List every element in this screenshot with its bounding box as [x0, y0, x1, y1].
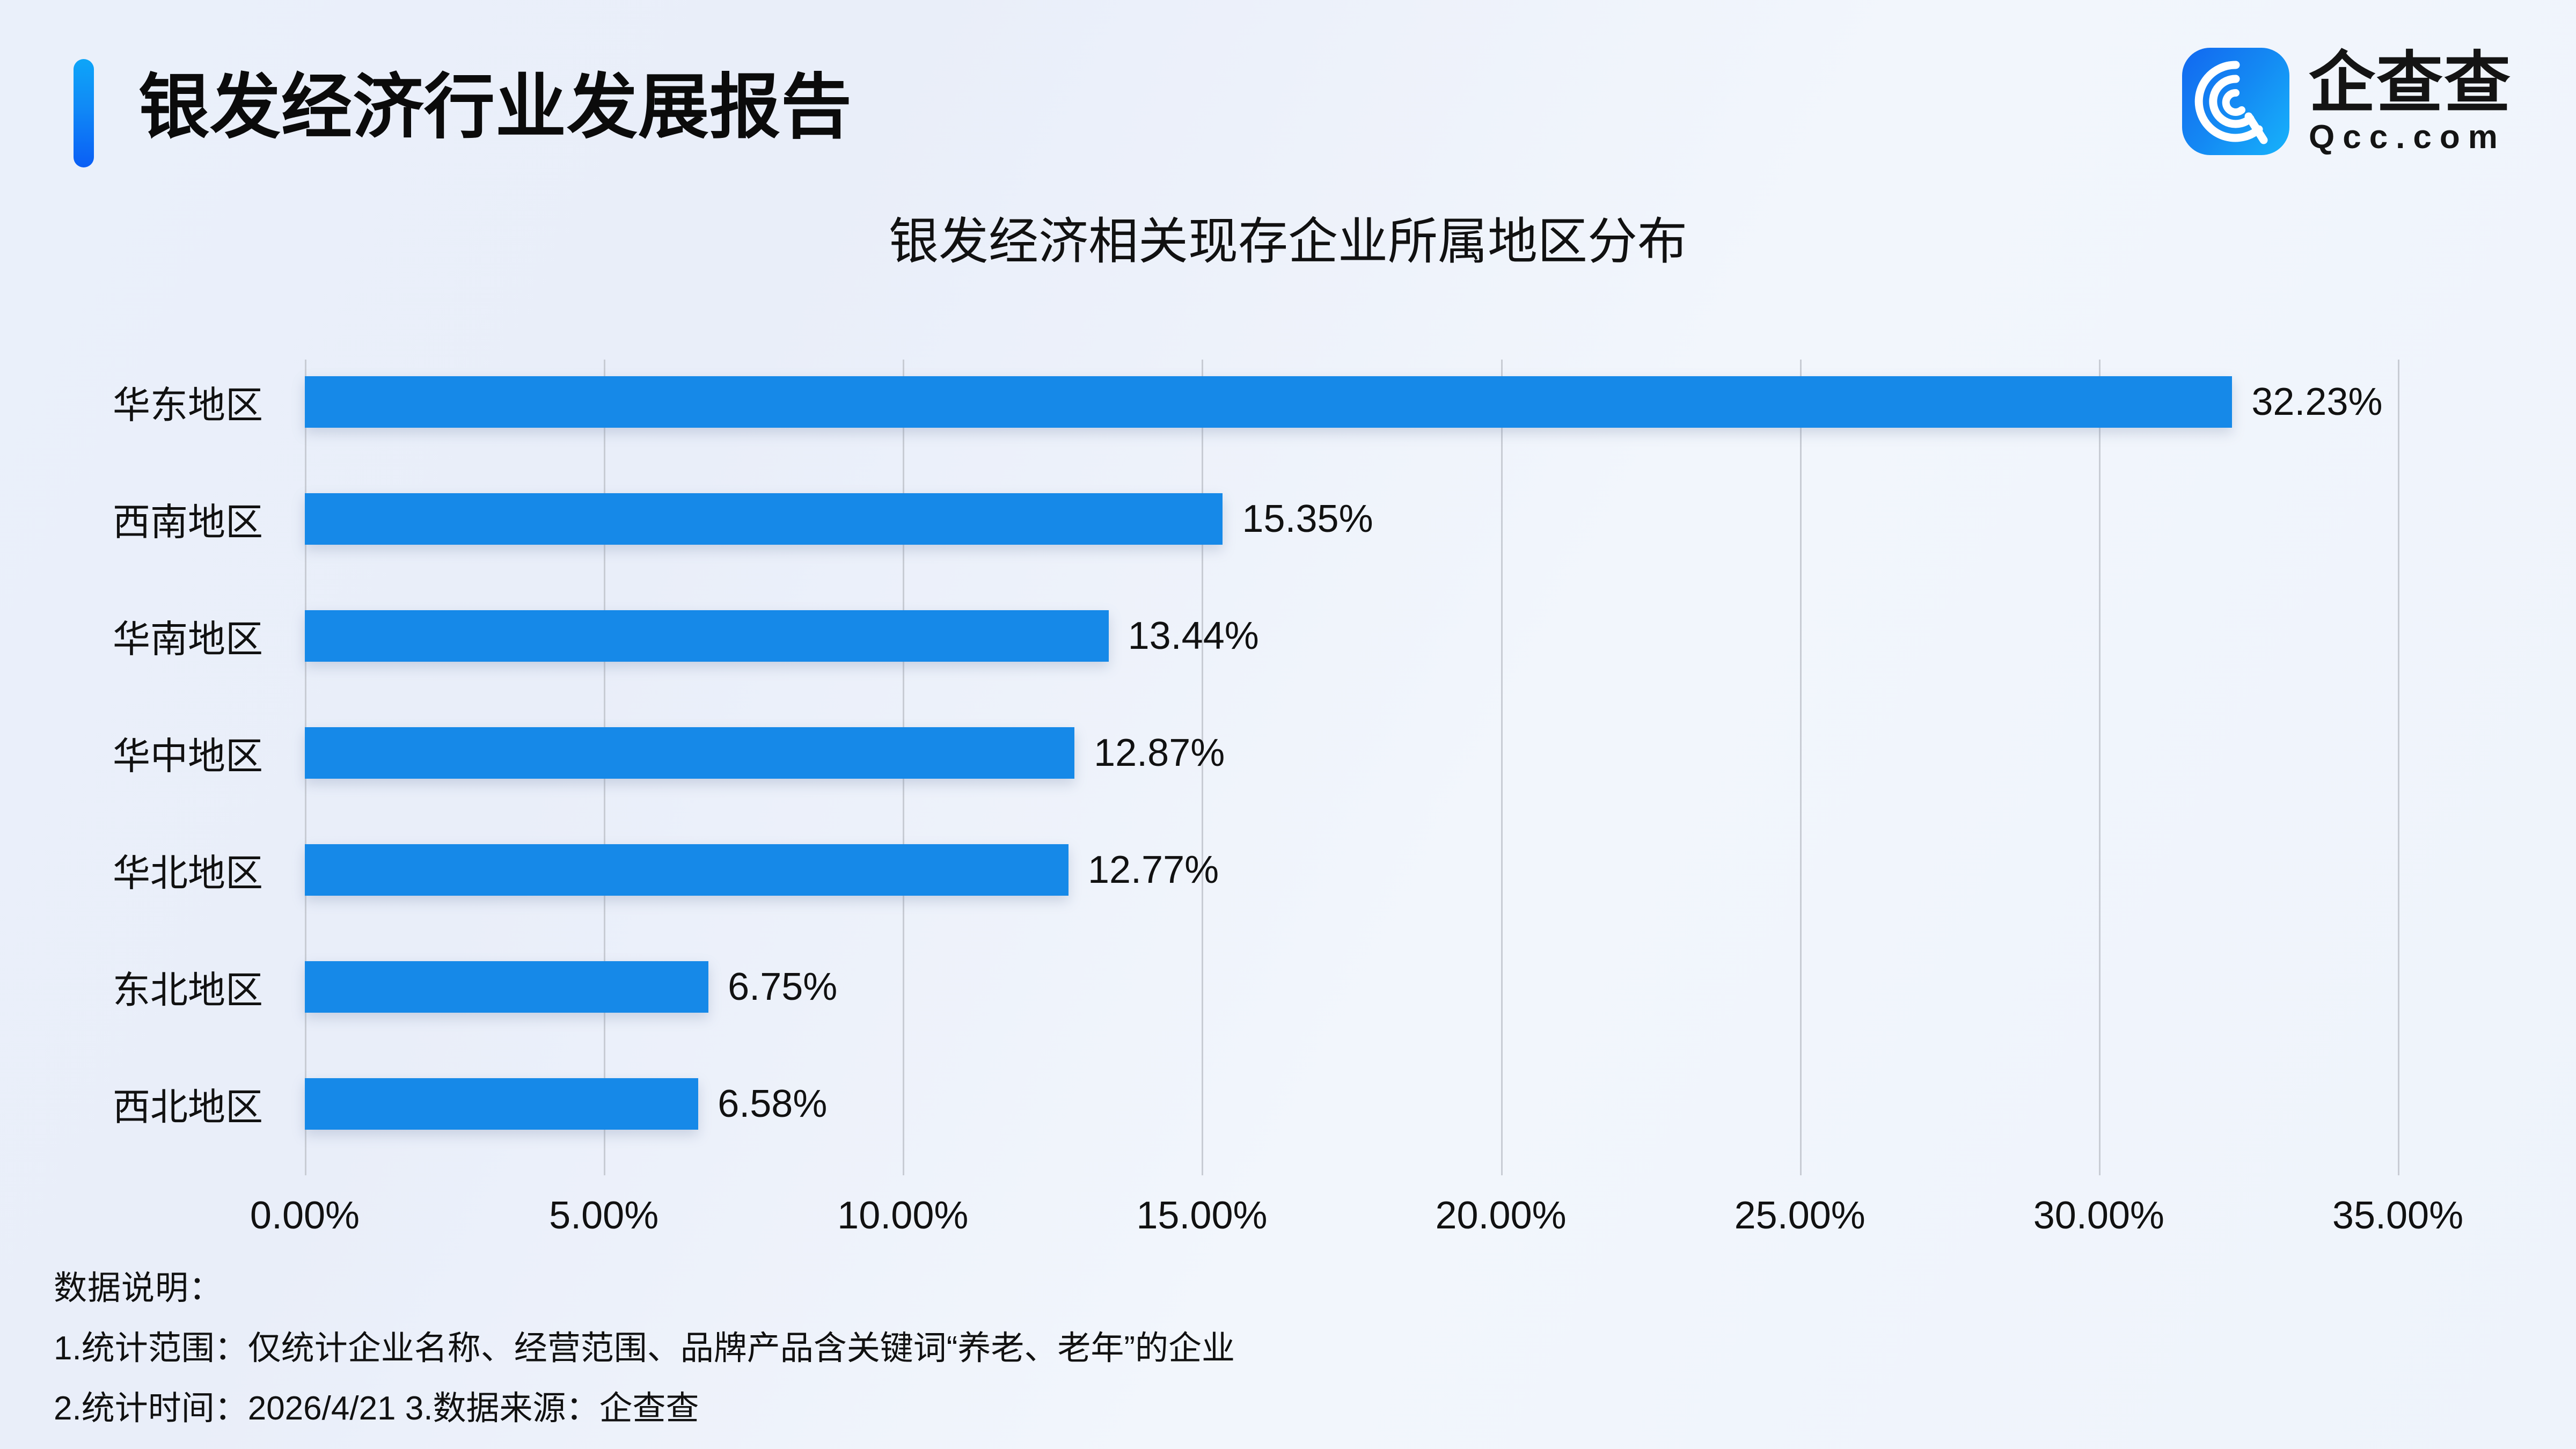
bar-track: 13.44% [305, 577, 2576, 694]
x-axis-tick-label: 5.00% [549, 1189, 658, 1242]
page-title: 银发经济行业发展报告 [138, 54, 852, 161]
note-time-source: 2.统计时间：2026/4/21 3.数据来源：企查查 [54, 1379, 2469, 1439]
bar-row[interactable]: 西南地区15.35% [0, 460, 2576, 577]
x-axis-tick-label: 0.00% [250, 1189, 360, 1242]
bar[interactable] [305, 727, 1074, 779]
bar-value-label: 15.35% [1242, 493, 1373, 545]
category-label: 西北地区 [113, 1045, 263, 1162]
data-notes: 数据说明： 1.统计范围：仅统计企业名称、经营范围、品牌产品含关键词“养老、老年… [54, 1258, 2469, 1439]
bar-row[interactable]: 华北地区12.77% [0, 811, 2576, 928]
bar[interactable] [305, 1078, 698, 1130]
x-axis-tick-label: 25.00% [1735, 1189, 1865, 1242]
category-label: 东北地区 [113, 928, 263, 1045]
bar[interactable] [305, 961, 708, 1013]
bar-track: 6.58% [305, 1045, 2576, 1162]
x-axis-tick-label: 20.00% [1435, 1189, 1566, 1242]
x-axis-tick-label: 30.00% [2033, 1189, 2164, 1242]
bar-value-label: 13.44% [1128, 610, 1259, 662]
bar-chart: 华东地区32.23%西南地区15.35%华南地区13.44%华中地区12.87%… [0, 343, 2576, 1213]
category-label: 华北地区 [113, 811, 263, 928]
x-axis-tick-label: 10.00% [837, 1189, 968, 1242]
category-label: 华中地区 [113, 694, 263, 811]
category-label: 西南地区 [113, 460, 263, 577]
bar-value-label: 6.58% [718, 1078, 827, 1130]
bar-row[interactable]: 华东地区32.23% [0, 343, 2576, 460]
bar-track: 15.35% [305, 460, 2576, 577]
x-axis-tick-label: 15.00% [1136, 1189, 1267, 1242]
brand-logo[interactable]: 企查查 Qcc.com [2182, 47, 2512, 156]
bar[interactable] [305, 493, 1223, 545]
title-accent-bar [74, 59, 94, 167]
brand-name-cn: 企查查 [2309, 47, 2512, 119]
x-axis: 0.00%5.00%10.00%15.00%20.00%25.00%30.00%… [0, 1189, 2576, 1248]
brand-domain: Qcc.com [2309, 119, 2512, 156]
chart-title: 银发经济相关现存企业所属地区分布 [0, 209, 2576, 274]
bar-row[interactable]: 西北地区6.58% [0, 1045, 2576, 1162]
brand-wordmark: 企查查 Qcc.com [2309, 47, 2512, 156]
category-label: 华南地区 [113, 577, 263, 694]
bar[interactable] [305, 376, 2232, 428]
qcc-spiral-q-icon [2182, 48, 2289, 155]
bar-value-label: 12.87% [1094, 727, 1225, 779]
x-axis-tick-label: 35.00% [2332, 1189, 2463, 1242]
bar-row[interactable]: 华南地区13.44% [0, 577, 2576, 694]
bar[interactable] [305, 844, 1069, 896]
bar-row[interactable]: 华中地区12.87% [0, 694, 2576, 811]
bar-track: 6.75% [305, 928, 2576, 1045]
category-label: 华东地区 [113, 343, 263, 460]
bar-track: 32.23% [305, 343, 2576, 460]
bar-row[interactable]: 东北地区6.75% [0, 928, 2576, 1045]
bar-value-label: 12.77% [1088, 844, 1219, 896]
bar-value-label: 6.75% [728, 961, 837, 1013]
note-scope: 1.统计范围：仅统计企业名称、经营范围、品牌产品含关键词“养老、老年”的企业 [54, 1319, 2469, 1379]
bar-value-label: 32.23% [2251, 376, 2382, 428]
page-header: 银发经济行业发展报告 企查查 Qcc.com [0, 0, 2576, 209]
bar-track: 12.77% [305, 811, 2576, 928]
bar[interactable] [305, 610, 1109, 662]
bar-track: 12.87% [305, 694, 2576, 811]
notes-heading: 数据说明： [54, 1258, 2469, 1319]
